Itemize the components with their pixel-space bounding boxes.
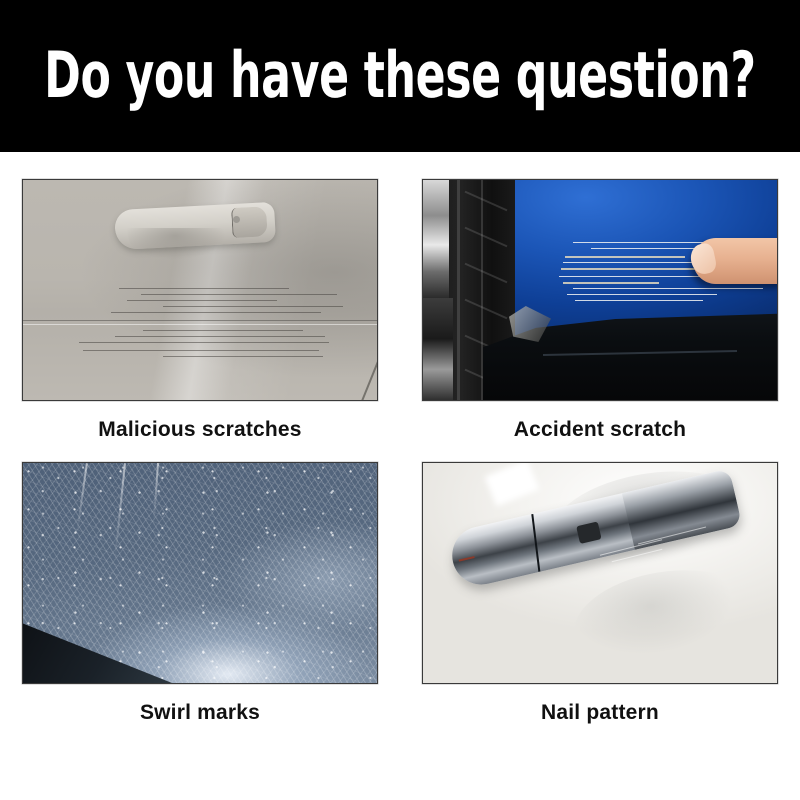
scratch-line [563, 282, 659, 284]
scratch-line [163, 306, 343, 307]
tire-tread [465, 263, 508, 284]
scratch-line [163, 356, 323, 357]
panel-accident-scratch: Accident scratch [422, 179, 778, 442]
header-banner: Do you have these question? [0, 0, 800, 152]
panel-caption: Swirl marks [22, 701, 378, 725]
tire-tread [465, 191, 508, 212]
scratch-line [127, 300, 277, 301]
handle-seam [531, 514, 540, 572]
photo-malicious-scratches [22, 179, 378, 401]
scratch-line [115, 336, 325, 337]
wheel-rim-lower [423, 298, 453, 400]
scratch-line [111, 312, 321, 313]
panel-caption: Accident scratch [422, 418, 778, 442]
panel-swirl-marks: Swirl marks [22, 462, 378, 725]
handle-recess-shadow [127, 228, 247, 266]
tire-tread [465, 299, 508, 320]
panel-nail-pattern: Nail pattern [422, 462, 778, 725]
handle-sensor-button [576, 521, 601, 543]
door-body-crease [23, 320, 377, 321]
photo-swirl-marks [22, 462, 378, 684]
scratch-line [79, 342, 329, 343]
scratch-line [575, 300, 703, 301]
scratch-line [567, 294, 717, 295]
photo-accident-scratch [422, 179, 778, 401]
scratch-line [143, 330, 303, 331]
panel-caption: Malicious scratches [22, 418, 378, 442]
panel-caption: Nail pattern [422, 701, 778, 725]
scratch-line [565, 256, 685, 258]
handle-keyhole [233, 216, 240, 223]
scratch-line [141, 294, 337, 295]
tire-tread [481, 180, 483, 400]
wheel-rim [423, 180, 449, 298]
scratch-line [119, 288, 289, 289]
photo-nail-pattern [422, 462, 778, 684]
door-body-crease-highlight [23, 324, 377, 325]
tire-tread [465, 227, 508, 248]
panel-malicious-scratches: Malicious scratches [22, 179, 378, 442]
panel-grid: Malicious scratches [0, 152, 800, 800]
handle-key-slot [459, 556, 475, 562]
scratch-line [83, 350, 319, 351]
tire-tread [457, 180, 460, 400]
scratch-line [573, 288, 763, 289]
page-title: Do you have these question? [44, 44, 756, 108]
